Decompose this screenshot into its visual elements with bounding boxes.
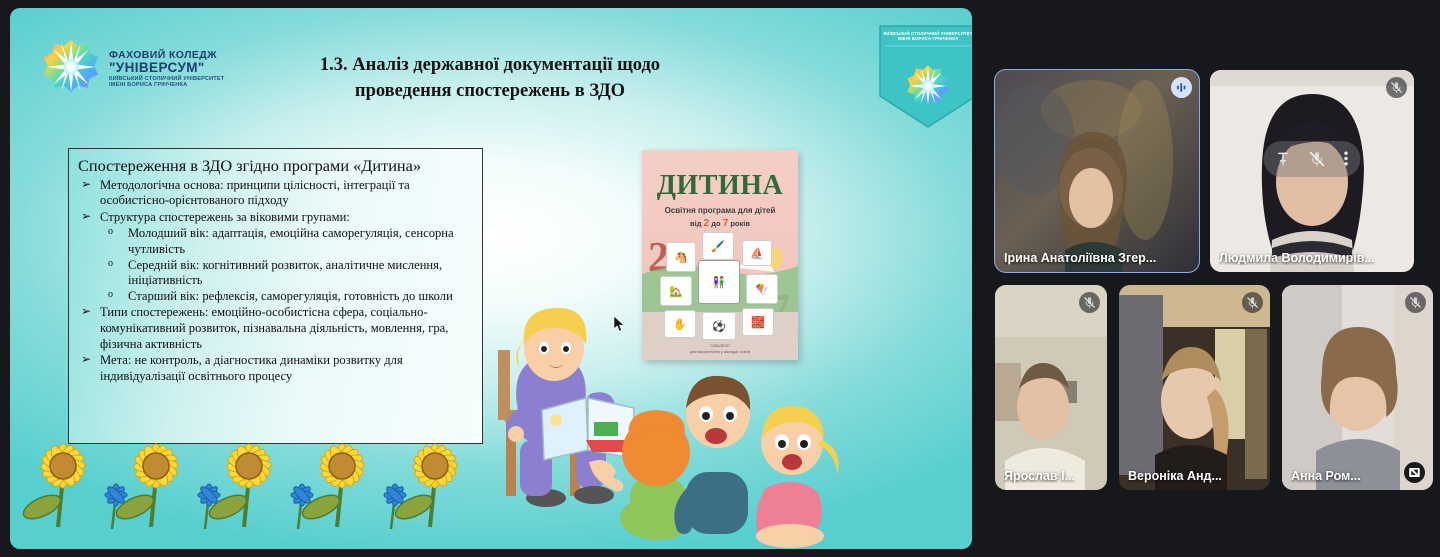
book-subtitle: Освітня програма для дітей [642, 206, 798, 215]
bullet-text: Методологічна основа: принципи цілісност… [100, 178, 410, 208]
bullet-list: ➢Методологічна основа: принципи ціліснос… [78, 178, 473, 385]
bullet-item: ➢Структура спостережень за віковими груп… [78, 210, 473, 305]
bullet-marker: ➢ [81, 352, 91, 367]
sub-bullet-text: Старший вік: рефлексія, саморегуляція, г… [128, 289, 453, 303]
bullet-text: Типи спостережень: емоційно-особистісна … [100, 305, 448, 350]
mic-muted-icon [1242, 292, 1263, 313]
meeting-screen-share-view: ФАХОВИЙ КОЛЕДЖ "УНІВЕРСУМ" КИЇВСЬКИЙ СТО… [0, 0, 1440, 557]
logo-line-4: ІМЕНІ БОРИСА ГРІНЧЕНКА [109, 83, 224, 89]
mouse-cursor [614, 316, 625, 332]
participant-name: Вероніка Анд... [1128, 469, 1222, 483]
slide-title-line-1: 1.3. Аналіз державної документації щодо [220, 52, 760, 78]
teacher-reading-to-children-illustration [490, 290, 870, 548]
logo-line-2: "УНІВЕРСУМ" [109, 61, 224, 75]
picture-in-picture-icon[interactable] [1404, 462, 1425, 483]
shared-slide[interactable]: ФАХОВИЙ КОЛЕДЖ "УНІВЕРСУМ" КИЇВСЬКИЙ СТО… [10, 8, 972, 549]
sunflowers-and-cornflowers-border [10, 441, 488, 549]
participant-name: Людмила Володимирів... [1219, 251, 1375, 265]
sub-bullet-text: Молодший вік: адаптація, емоційна саморе… [128, 226, 454, 256]
sub-bullet-list: oМолодший вік: адаптація, емоційна самор… [100, 226, 473, 304]
bullet-item: ➢Типи спостережень: емоційно-особистісна… [78, 305, 473, 352]
college-logo: ФАХОВИЙ КОЛЕДЖ "УНІВЕРСУМ" КИЇВСЬКИЙ СТО… [42, 38, 224, 101]
university-shield-emblem: КИЇВСЬКИЙ СТОЛИЧНИЙ УНІВЕРСИТЕТ ІМЕНІ БО… [876, 24, 972, 129]
pin-icon[interactable] [1276, 151, 1291, 167]
bullet-text: Структура спостережень за віковими група… [100, 210, 350, 224]
sub-bullet-marker: o [108, 226, 113, 238]
book-title: ДИТИНА [642, 170, 798, 202]
video-tile-participant-4[interactable]: Вероніка Анд... [1119, 285, 1270, 490]
starburst-logo-icon [42, 38, 100, 101]
mic-muted-icon [1079, 292, 1100, 313]
sub-bullet-item: oСтарший вік: рефлексія, саморегуляція, … [100, 289, 473, 305]
bullet-marker: ➢ [81, 304, 91, 319]
sub-bullet-marker: o [108, 289, 113, 301]
more-options-icon[interactable] [1344, 150, 1349, 167]
tile-hover-toolbar[interactable] [1264, 141, 1361, 177]
participant-name: Анна Ром... [1291, 469, 1361, 483]
bullet-text: Мета: не контроль, а діагностика динамік… [100, 353, 403, 383]
audio-level-icon [1171, 77, 1192, 98]
mic-muted-icon [1405, 292, 1426, 313]
slide-title-line-2: проведення спостережень в ЗДО [220, 78, 760, 104]
sub-bullet-item: oСередній вік: когнітивний розвиток, ана… [100, 258, 473, 289]
video-tile-participant-1[interactable]: Ірина Анатоліївна Згер... [995, 70, 1199, 272]
bullet-item: ➢Мета: не контроль, а діагностика динамі… [78, 353, 473, 384]
video-tile-participant-3[interactable]: Ярослав І... [995, 285, 1107, 490]
sub-bullet-item: oМолодший вік: адаптація, емоційна самор… [100, 226, 473, 257]
participant-video-panel: Ірина Анатоліївна Згер... [988, 0, 1440, 557]
video-tile-participant-5[interactable]: Анна Ром... [1282, 285, 1433, 490]
slide-title: 1.3. Аналіз державної документації щодо … [220, 52, 760, 105]
sub-bullet-text: Середній вік: когнітивний розвиток, анал… [128, 258, 442, 288]
shield-line-2: ІМЕНІ БОРИСА ГРІНЧЕНКА [876, 36, 972, 41]
sub-bullet-marker: o [108, 258, 113, 270]
bullet-marker: ➢ [81, 177, 91, 192]
mic-muted-icon [1386, 77, 1407, 98]
bullet-marker: ➢ [81, 209, 91, 224]
participant-name: Ярослав І... [1004, 469, 1075, 483]
textbox-heading: Спостереження в ЗДО згідно програми «Дит… [78, 156, 473, 177]
content-textbox: Спостереження в ЗДО згідно програми «Дит… [68, 148, 483, 444]
mic-muted-icon[interactable] [1309, 150, 1326, 168]
video-tile-participant-2[interactable]: Людмила Володимирів... [1210, 70, 1414, 272]
bullet-item: ➢Методологічна основа: принципи ціліснос… [78, 178, 473, 209]
participant-name: Ірина Анатоліївна Згер... [1004, 251, 1156, 265]
book-age-range: від 2 до 7 років [642, 218, 798, 229]
